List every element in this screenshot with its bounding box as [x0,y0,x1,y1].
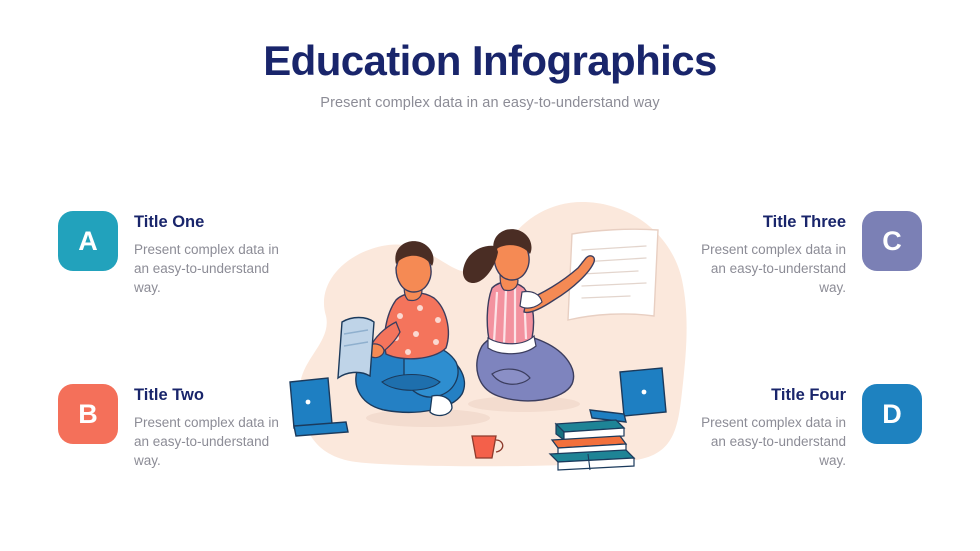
page-subtitle: Present complex data in an easy-to-under… [0,95,980,111]
students-studying-illustration [286,196,694,486]
info-item-d-text: Title Four Present complex data in an ea… [694,384,846,470]
book-stack [550,420,634,470]
infographic-slide: Education Infographics Present complex d… [0,0,980,551]
info-item-a-description: Present complex data in an easy-to-under… [134,240,286,297]
info-item-c-text: Title Three Present complex data in an e… [694,211,846,297]
floor-shadow-man [366,409,490,427]
info-item-d-title: Title Four [694,386,846,406]
info-item-b-description: Present complex data in an easy-to-under… [134,413,286,470]
info-item-c[interactable]: C Title Three Present complex data in an… [694,211,922,297]
badge-letter-b: B [58,384,118,444]
info-item-d[interactable]: D Title Four Present complex data in an … [694,384,922,470]
info-item-a-text: Title One Present complex data in an eas… [134,211,286,297]
badge-letter-d: D [862,384,922,444]
info-item-b-title: Title Two [134,386,286,406]
badge-letter-c: C [862,211,922,271]
info-item-c-title: Title Three [694,213,846,233]
slide-header: Education Infographics Present complex d… [0,38,980,111]
page-title: Education Infographics [0,38,980,83]
info-item-a[interactable]: A Title One Present complex data in an e… [58,211,286,297]
info-item-b[interactable]: B Title Two Present complex data in an e… [58,384,286,470]
info-item-c-description: Present complex data in an easy-to-under… [694,240,846,297]
badge-letter-a: A [58,211,118,271]
info-item-b-text: Title Two Present complex data in an eas… [134,384,286,470]
info-item-d-description: Present complex data in an easy-to-under… [694,413,846,470]
info-item-a-title: Title One [134,213,286,233]
